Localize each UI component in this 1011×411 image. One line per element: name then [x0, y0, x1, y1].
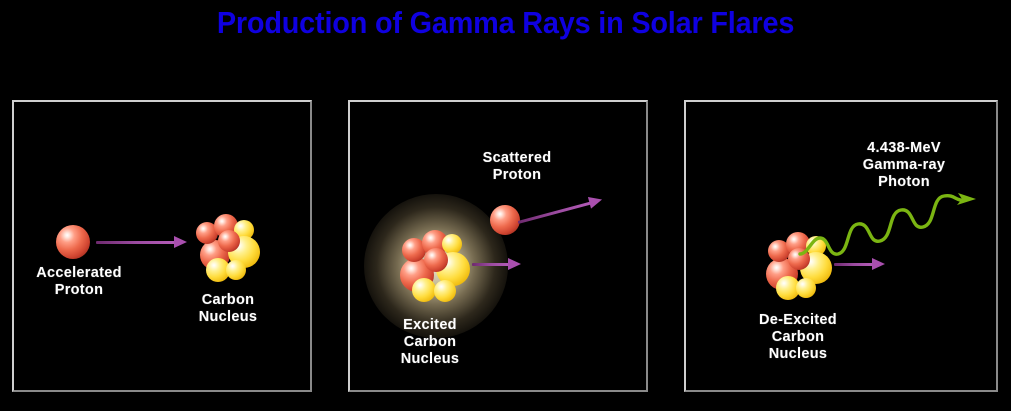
- de-excited-carbon-nucleus-label: De-Excited Carbon Nucleus: [728, 312, 868, 363]
- carbon-nucleus-label: Carbon Nucleus: [166, 292, 290, 326]
- gamma-ray-wave-arrow: [798, 180, 988, 265]
- excited-carbon-nucleus-cluster: [396, 230, 472, 300]
- page-title: Production of Gamma Rays in Solar Flares: [35, 5, 975, 41]
- excitation-scattering-panel: Scattered Proton Excited Carbon Nucleus: [348, 100, 648, 392]
- proton-collision-panel: Accelerated Proton Carbon Nucleus: [12, 100, 312, 392]
- scattered-proton-arrow: [516, 192, 607, 229]
- scattered-proton-label: Scattered Proton: [452, 150, 582, 184]
- accelerated-proton-sphere: [56, 225, 90, 259]
- scattered-proton-sphere: [490, 205, 520, 235]
- excited-carbon-nucleus-label: Excited Carbon Nucleus: [364, 317, 496, 368]
- carbon-nucleus-cluster: [192, 214, 264, 280]
- gamma-ray-photon-label: 4.438-MeV Gamma-ray Photon: [834, 140, 974, 191]
- nucleus-recoil-arrow: [472, 257, 524, 271]
- accelerated-proton-label: Accelerated Proton: [14, 265, 144, 299]
- gamma-emission-panel: 4.438-MeV Gamma-ray Photon De-Excited Ca…: [684, 100, 998, 392]
- incoming-proton-arrow: [96, 235, 189, 249]
- diagram-root: Production of Gamma Rays in Solar Flares…: [0, 0, 1011, 411]
